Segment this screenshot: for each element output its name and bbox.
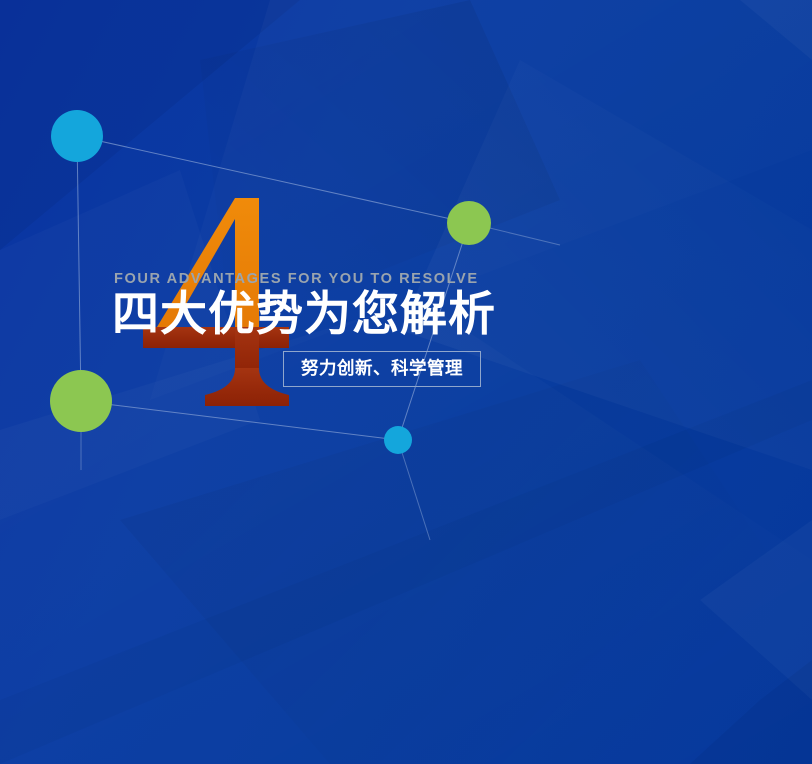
node-cyan-bottom: [384, 426, 412, 454]
node-green-right: [447, 201, 491, 245]
promotional-banner: FOUR ADVANTAGES FOR YOU TO RESOLVE 四大优势为…: [0, 0, 812, 764]
page-title: 四大优势为您解析: [112, 289, 496, 340]
eyebrow-text: FOUR ADVANTAGES FOR YOU TO RESOLVE: [114, 272, 479, 287]
tagline-text: 努力创新、科学管理: [301, 360, 463, 378]
banner-content: FOUR ADVANTAGES FOR YOU TO RESOLVE 四大优势为…: [0, 0, 812, 764]
tagline-box: 努力创新、科学管理: [283, 351, 481, 387]
node-cyan-top-left: [51, 110, 103, 162]
node-green-bottom-left: [50, 370, 112, 432]
